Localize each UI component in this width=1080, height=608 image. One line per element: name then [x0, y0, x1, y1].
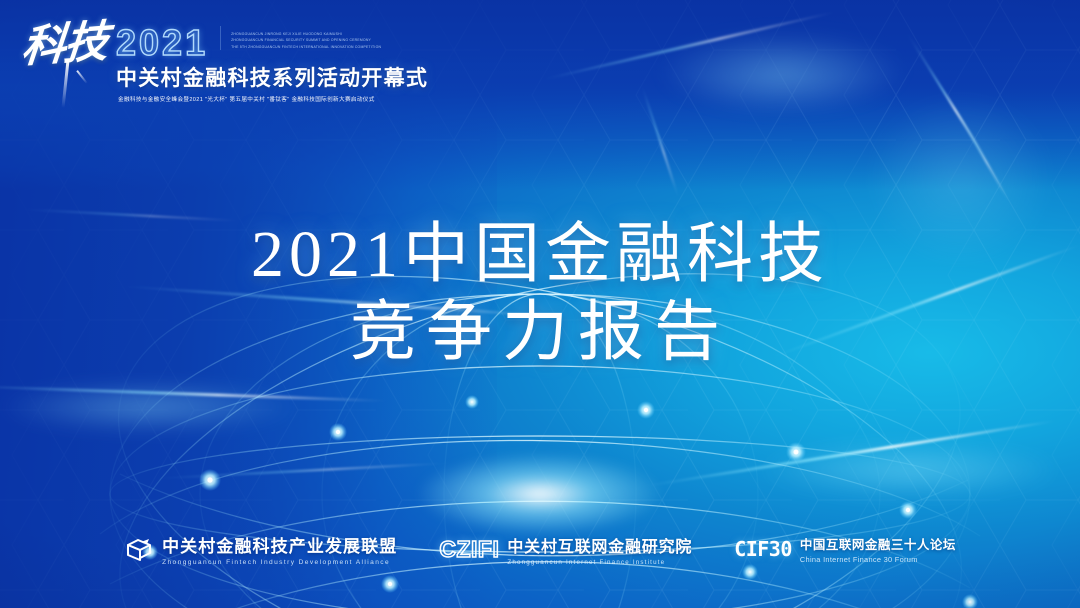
brush-logo-text: 科技	[20, 19, 109, 71]
brush-stroke-decoration-2	[76, 70, 87, 84]
logo-2-en: Zhongguancun Internet Finance Institute	[507, 559, 692, 566]
banner-pinyin-line-2: ZHONGGUANCUN FINANCIAL SECURITY SUMMIT A…	[231, 37, 381, 43]
poster-slide: 科技 2021 ZHONGGUANCUN JINRONG KEJI XILIE …	[0, 0, 1080, 608]
sponsor-logo-bar: 中关村金融科技产业发展联盟 Zhongguancun Fintech Indus…	[0, 532, 1080, 566]
event-banner: 科技 2021 ZHONGGUANCUN JINRONG KEJI XILIE …	[22, 20, 428, 104]
logo-czifi: CZIFI 中关村互联网金融研究院 Zhongguancun Internet …	[439, 533, 692, 566]
banner-pinyin-line-3: THE 5TH ZHONGGUANCUN FINTECH INTERNATION…	[231, 44, 381, 50]
brush-calligraphy-logo: 科技	[22, 20, 114, 98]
logo-3-cn: 中国互联网金融三十人论坛	[800, 534, 956, 553]
banner-subline: 金融科技与金融安全峰会暨2021 "光大杯" 第五届中关村 "番钛客" 金融科技…	[118, 96, 428, 104]
banner-pinyin-block: ZHONGGUANCUN JINRONG KEJI XILIE HUODONG …	[220, 26, 381, 50]
logo-3-en: China Internet Finance 30 Forum	[800, 555, 956, 564]
banner-headline: 中关村金融科技系列活动开幕式	[116, 62, 428, 92]
logo-2-cn: 中关村互联网金融研究院	[507, 533, 692, 557]
logo-zgc-fintech-alliance: 中关村金融科技产业发展联盟 Zhongguancun Fintech Indus…	[124, 532, 397, 566]
alliance-cube-icon	[124, 534, 154, 564]
czifi-wordmark: CZIFI	[439, 538, 499, 561]
logo-cif30: CIF30 中国互联网金融三十人论坛 China Internet Financ…	[734, 534, 956, 564]
logo-1-en: Zhongguancun Fintech Industry Developmen…	[162, 559, 397, 566]
cif30-wordmark: CIF30	[734, 539, 792, 559]
logo-1-cn: 中关村金融科技产业发展联盟	[162, 532, 397, 557]
banner-year: 2021	[116, 26, 208, 60]
